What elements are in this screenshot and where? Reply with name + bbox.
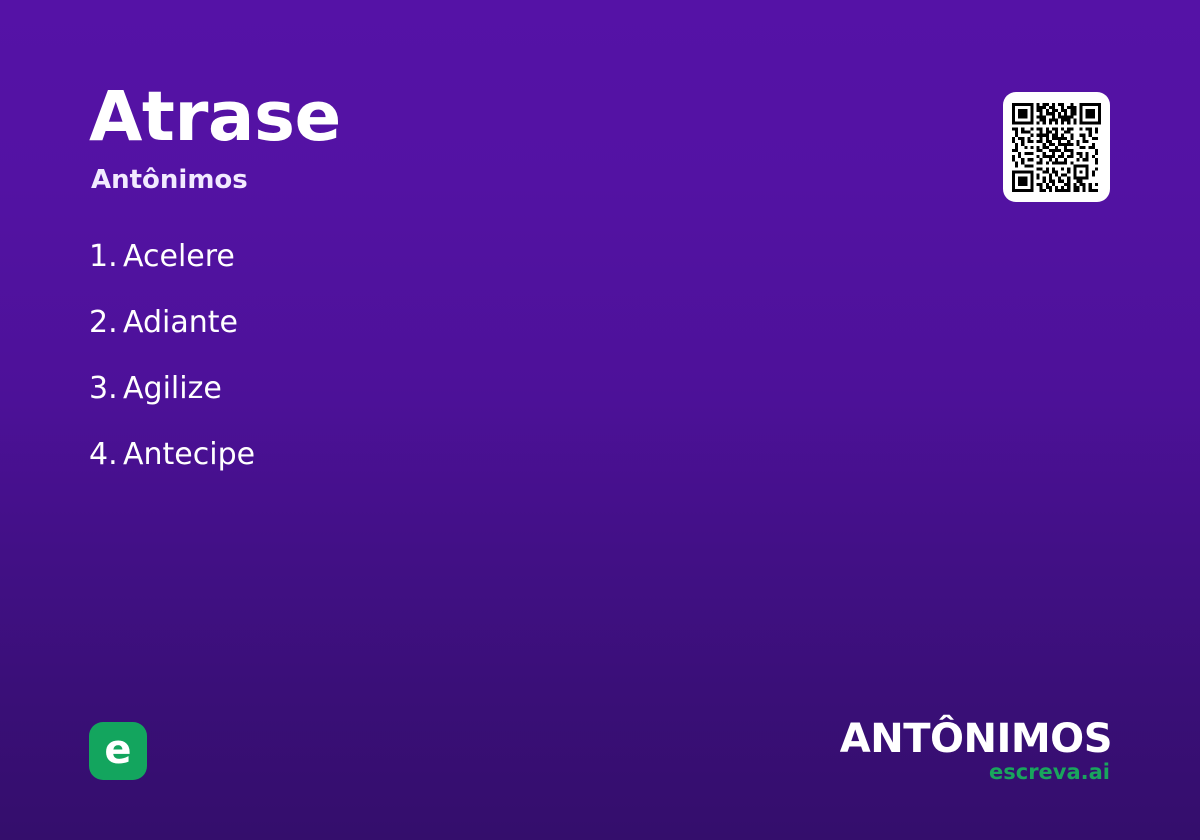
list-item: 2.Adiante (89, 303, 729, 343)
list-item: 4.Antecipe (89, 435, 729, 475)
list-item-index: 3. (89, 369, 123, 409)
list-item-word: Agilize (123, 371, 222, 406)
list-item-word: Antecipe (123, 437, 255, 472)
brand-lockup[interactable]: ANTÔNIMOS escreva.ai (840, 718, 1112, 783)
list-item-word: Acelere (123, 239, 235, 274)
qr-code-container[interactable] (1003, 92, 1110, 202)
escreva-e-badge-icon[interactable]: e (89, 722, 147, 780)
list-item: 3.Agilize (89, 369, 729, 409)
page-subtitle: Antônimos (91, 166, 909, 195)
headline-block: Atrase Antônimos (89, 83, 909, 195)
page-title: Atrase (89, 83, 909, 152)
list-item-index: 2. (89, 303, 123, 343)
list-item: 1.Acelere (89, 237, 729, 277)
brand-domain: escreva.ai (840, 761, 1110, 783)
antonyms-card: Atrase Antônimos 1.Acelere 2.Adiante 3.A… (0, 0, 1200, 840)
list-item-word: Adiante (123, 305, 238, 340)
antonym-list: 1.Acelere 2.Adiante 3.Agilize 4.Antecipe (89, 237, 729, 475)
brand-name: ANTÔNIMOS (840, 718, 1112, 760)
list-item-index: 1. (89, 237, 123, 277)
app-badge-letter: e (104, 730, 131, 770)
list-item-index: 4. (89, 435, 123, 475)
qr-code-icon (1012, 103, 1101, 192)
